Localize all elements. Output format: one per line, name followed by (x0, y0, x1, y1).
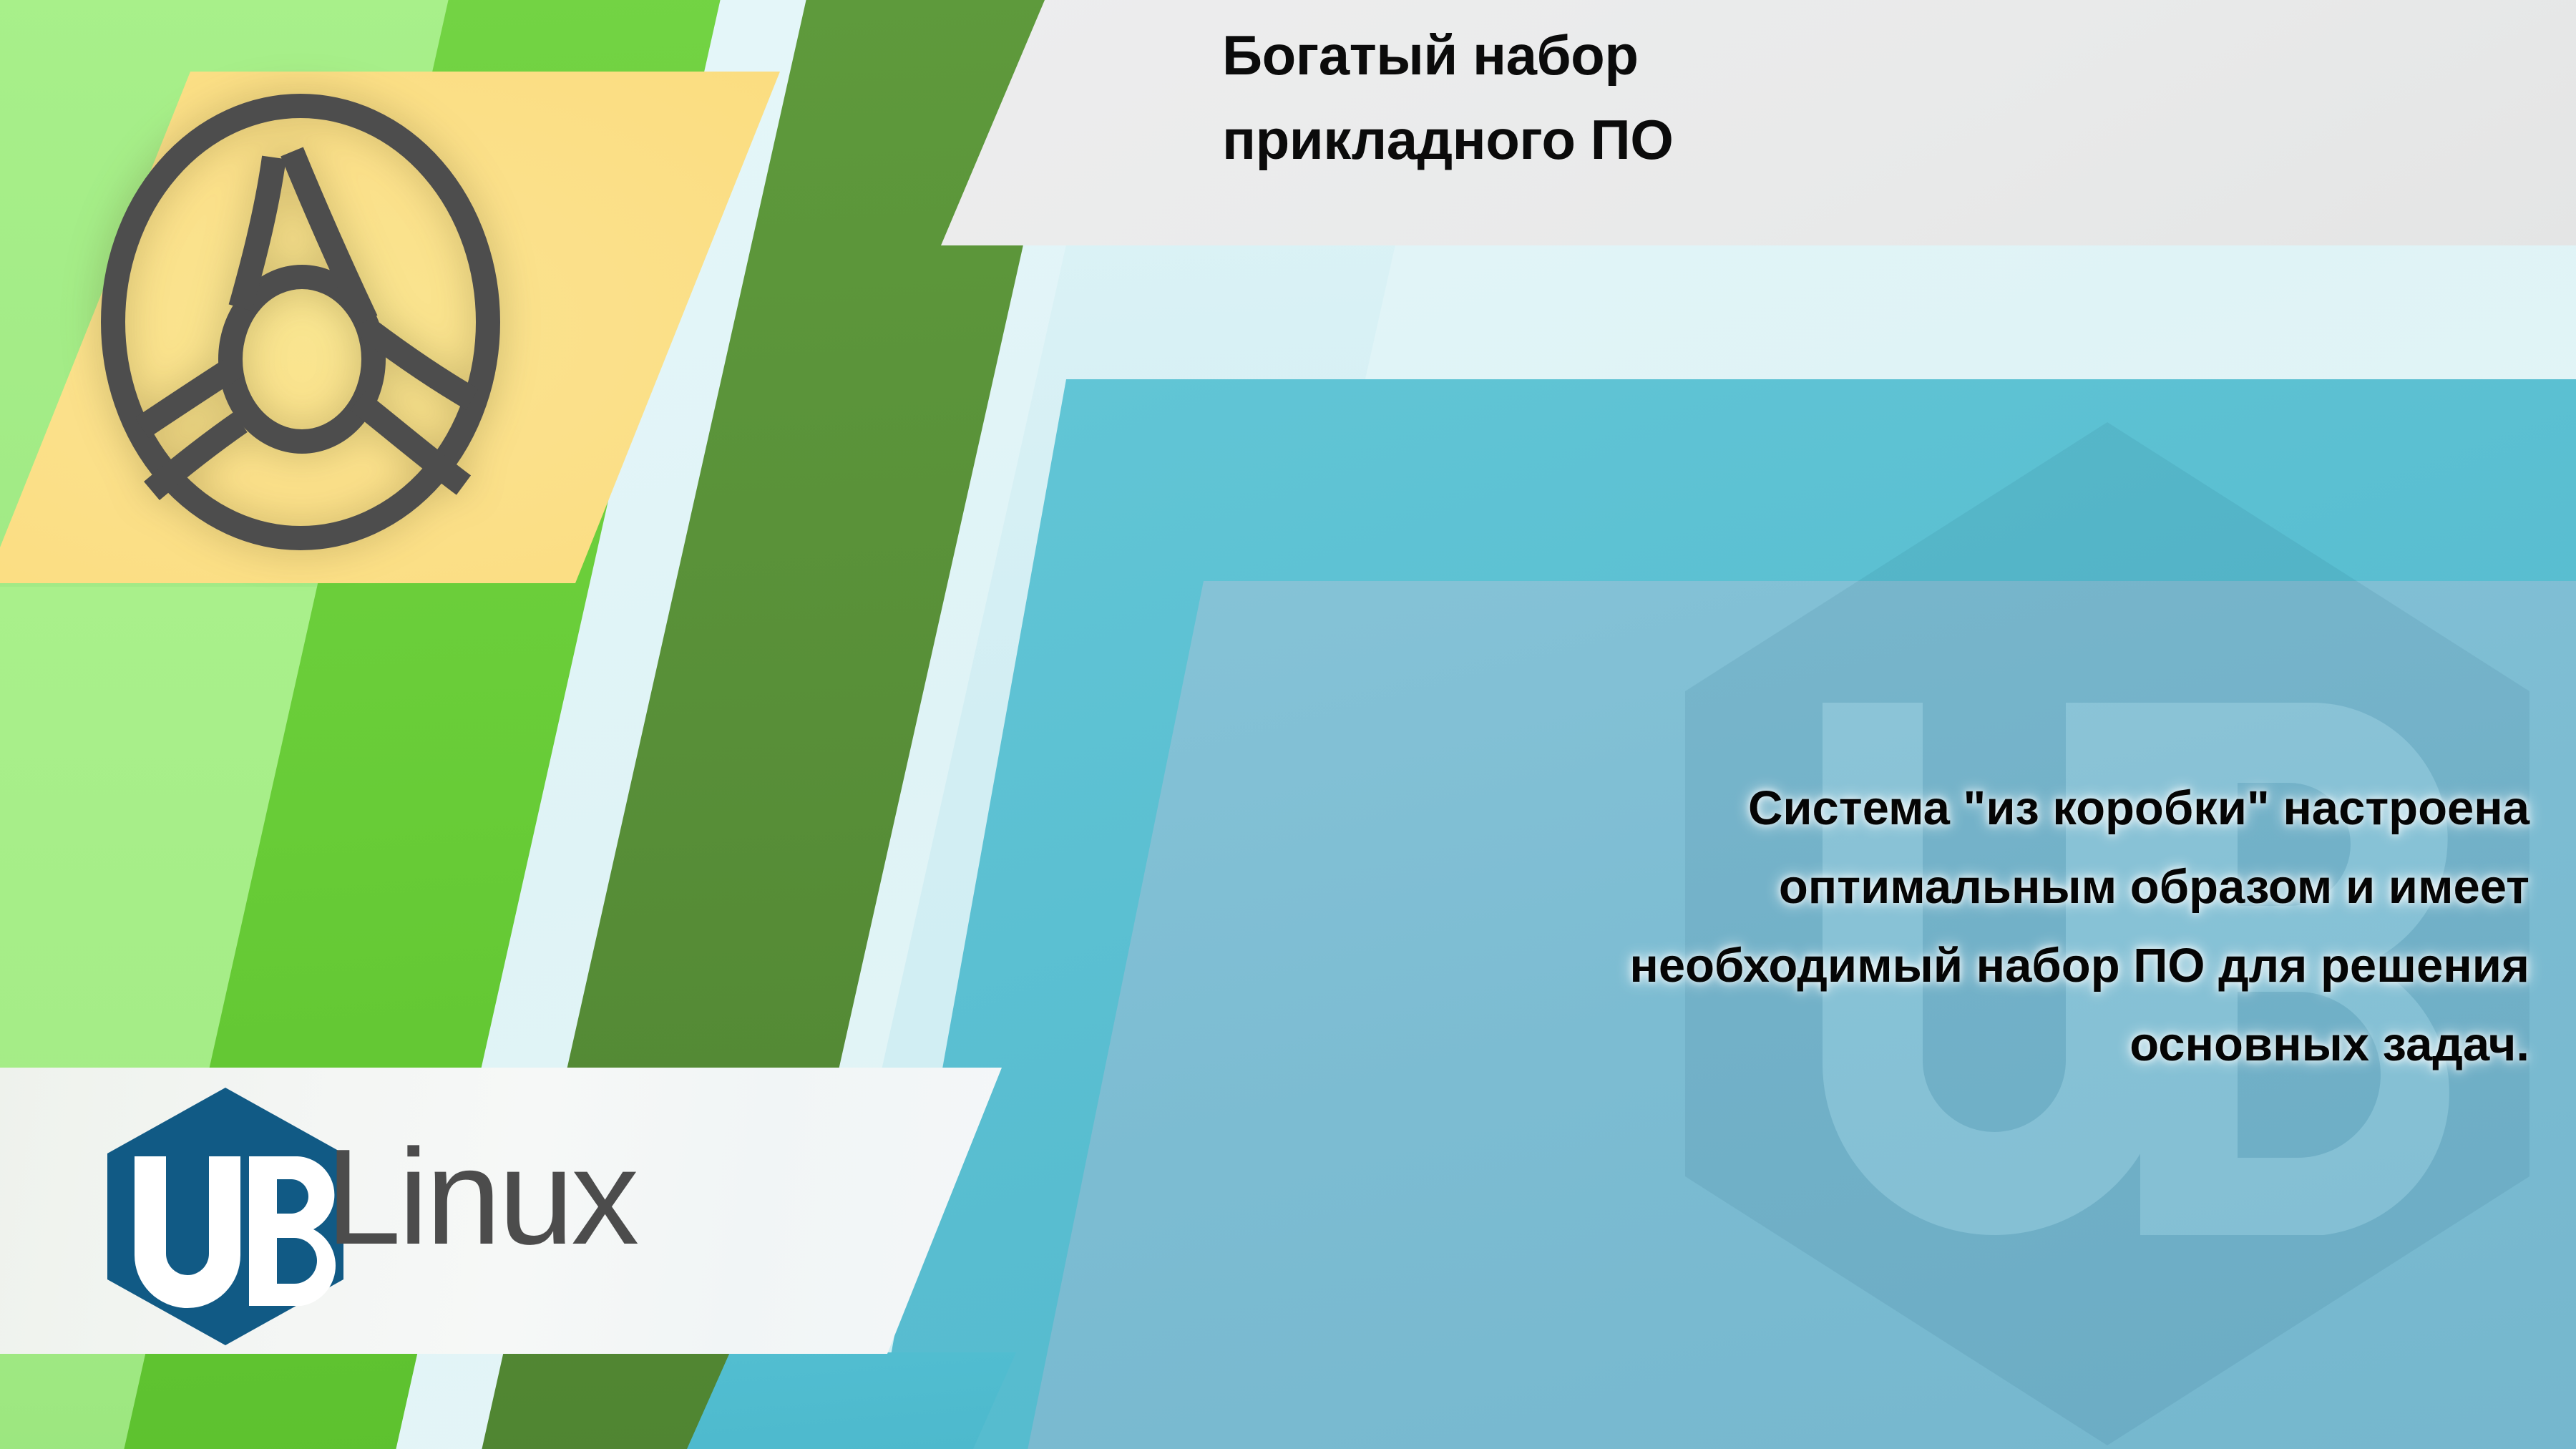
body-line-2: оптимальным образом и имеет (1259, 848, 2529, 927)
hexagon-icon (107, 1088, 343, 1345)
body-line-4: основных задач. (1259, 1005, 2529, 1084)
title-line-2: прикладного ПО (1222, 97, 2367, 182)
logo-wordmark: Linux (326, 1129, 636, 1265)
presentation-slide: Богатый набор прикладного ПО Система "из… (0, 0, 2576, 1449)
body-line-1: Система "из коробки" настроена (1259, 769, 2529, 848)
page-title: Богатый набор прикладного ПО (1222, 13, 2367, 182)
title-line-1: Богатый набор (1222, 13, 2367, 97)
body-paragraph: Система "из коробки" настроена оптимальн… (1259, 769, 2529, 1084)
body-line-3: необходимый набор ПО для решения (1259, 927, 2529, 1005)
aperture-icon (100, 93, 501, 551)
